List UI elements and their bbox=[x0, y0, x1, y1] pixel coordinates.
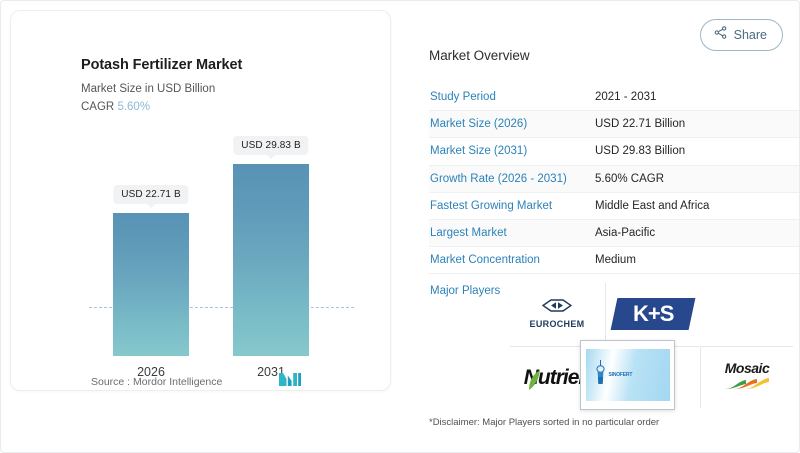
logo-cell-eurochem[interactable]: EUROCHEM bbox=[510, 283, 604, 345]
bar-chart-plot: USD 22.71 B 2026 USD 29.83 B 2031 bbox=[11, 116, 391, 356]
mosaic-swoosh-icon bbox=[724, 377, 770, 395]
source-text: Source : Mordor Intelligence bbox=[91, 376, 222, 388]
page-title: Potash Fertilizer Market bbox=[81, 56, 371, 75]
major-players-logo-grid: EUROCHEM K+S Nutrien bbox=[510, 283, 793, 408]
row-value: USD 22.71 Billion bbox=[595, 118, 685, 130]
major-players-label: Major Players bbox=[430, 285, 500, 297]
table-row: Market Size (2026) USD 22.71 Billion bbox=[429, 111, 800, 138]
row-value: 2021 - 2031 bbox=[595, 91, 656, 103]
ks-plate: K+S bbox=[610, 298, 695, 330]
row-label: Fastest Growing Market bbox=[430, 200, 595, 212]
mosaic-wordmark: Mosaic bbox=[725, 360, 769, 376]
cagr-label: CAGR bbox=[81, 101, 114, 113]
logo-cell-ks[interactable]: K+S bbox=[605, 283, 699, 345]
table-row: Largest Market Asia-Pacific bbox=[429, 220, 800, 247]
nutrien-leaf-icon bbox=[526, 369, 542, 396]
share-button[interactable]: Share bbox=[700, 19, 783, 51]
table-row: Fastest Growing Market Middle East and A… bbox=[429, 193, 800, 220]
cagr-value: 5.60% bbox=[117, 101, 150, 113]
share-nodes-icon bbox=[714, 26, 727, 44]
row-label: Market Size (2026) bbox=[430, 118, 595, 130]
bar-2031[interactable] bbox=[233, 164, 309, 356]
market-overview-panel: Share Market Overview Study Period 2021 … bbox=[411, 1, 800, 453]
bar-2026[interactable] bbox=[113, 213, 189, 356]
market-snapshot-page: Potash Fertilizer Market Market Size in … bbox=[0, 0, 800, 453]
table-row: Market Concentration Medium bbox=[429, 247, 800, 274]
row-label: Study Period bbox=[430, 91, 595, 103]
disclaimer-text: *Disclaimer: Major Players sorted in no … bbox=[429, 417, 659, 428]
row-value: Asia-Pacific bbox=[595, 227, 655, 239]
bar-group-2031: USD 29.83 B 2031 bbox=[233, 116, 309, 356]
overview-title: Market Overview bbox=[429, 48, 530, 63]
chart-card: Potash Fertilizer Market Market Size in … bbox=[10, 10, 391, 391]
row-label: Market Size (2031) bbox=[430, 145, 595, 157]
mordor-intelligence-logo-icon bbox=[279, 373, 301, 391]
sinofert-logo: SINOFERT bbox=[586, 349, 670, 401]
overview-table: Study Period 2021 - 2031 Market Size (20… bbox=[429, 84, 800, 274]
chart-header: Potash Fertilizer Market Market Size in … bbox=[81, 56, 371, 115]
chart-subtitle: Market Size in USD Billion bbox=[81, 82, 371, 96]
row-value: Medium bbox=[595, 254, 636, 266]
bar-value-label: USD 22.71 B bbox=[113, 185, 188, 204]
eurochem-wordmark: EUROCHEM bbox=[530, 319, 585, 329]
table-row: Market Size (2031) USD 29.83 Billion bbox=[429, 138, 800, 165]
row-label: Growth Rate (2026 - 2031) bbox=[430, 173, 595, 185]
row-value: USD 29.83 Billion bbox=[595, 145, 685, 157]
bar-group-2026: USD 22.71 B 2026 bbox=[113, 116, 189, 356]
cagr-line: CAGR 5.60% bbox=[81, 100, 371, 114]
table-row: Study Period 2021 - 2031 bbox=[429, 84, 800, 111]
sinofert-mark-icon bbox=[595, 360, 606, 391]
ks-wordmark: K+S bbox=[632, 301, 672, 327]
row-value: Middle East and Africa bbox=[595, 200, 709, 212]
sinofert-wordmark: SINOFERT bbox=[609, 372, 633, 378]
eurochem-mark-icon bbox=[542, 299, 572, 317]
row-value: 5.60% CAGR bbox=[595, 173, 664, 185]
logo-cell-mosaic[interactable]: Mosaic bbox=[700, 346, 793, 408]
sinofert-highlight-card[interactable]: SINOFERT bbox=[580, 340, 675, 410]
bar-value-label: USD 29.83 B bbox=[233, 136, 308, 155]
source-row: Source : Mordor Intelligence bbox=[91, 373, 341, 391]
row-label: Largest Market bbox=[430, 227, 595, 239]
table-row: Growth Rate (2026 - 2031) 5.60% CAGR bbox=[429, 166, 800, 193]
share-label: Share bbox=[734, 28, 767, 42]
row-label: Market Concentration bbox=[430, 254, 595, 266]
